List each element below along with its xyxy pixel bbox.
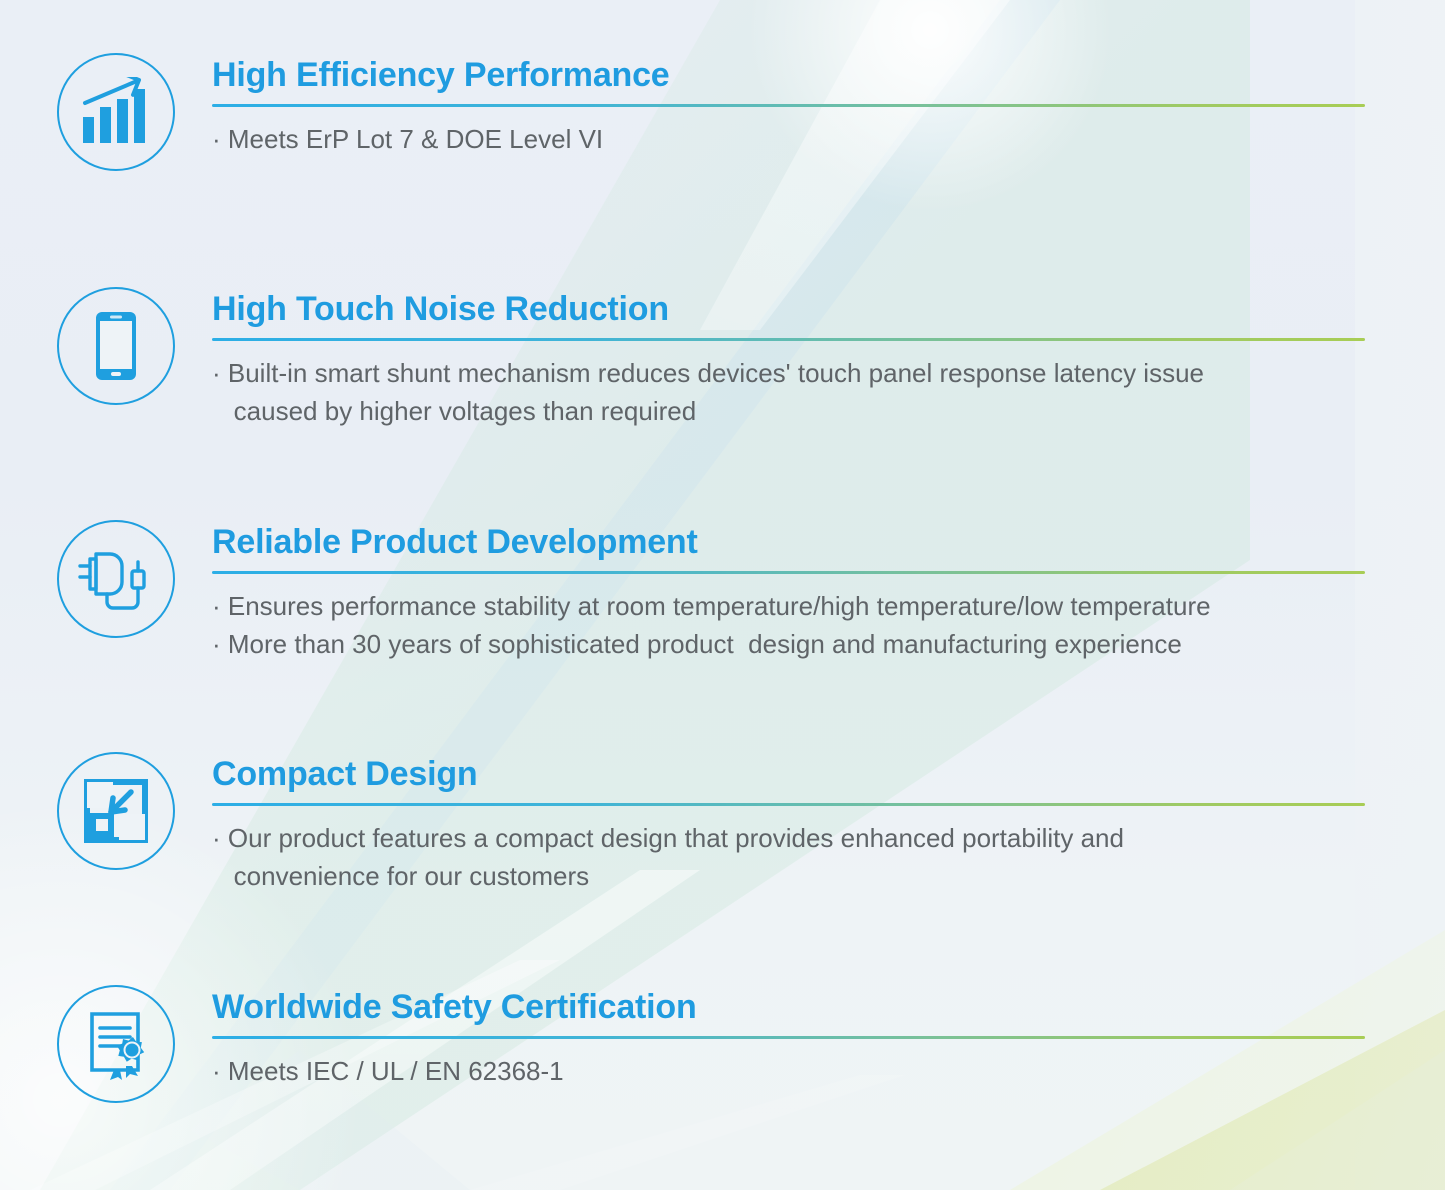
feature-icon-wrapper	[56, 52, 176, 172]
feature-description: · Our product features a compact design …	[212, 819, 1372, 895]
feature-list: High Efficiency Performance · Meets ErP …	[0, 0, 1445, 1190]
feature-icon-wrapper	[56, 984, 176, 1104]
bar-chart-growth-icon	[57, 53, 175, 171]
smartphone-icon	[57, 287, 175, 405]
feature-title: High Efficiency Performance	[212, 55, 1372, 95]
feature-text-block: High Touch Noise Reduction · Built-in sm…	[212, 289, 1372, 430]
feature-icon-wrapper	[56, 751, 176, 871]
feature-divider	[212, 803, 1365, 806]
feature-text-block: Worldwide Safety Certification · Meets I…	[212, 987, 1372, 1090]
feature-line: convenience for our customers	[212, 857, 1372, 895]
feature-divider	[212, 338, 1365, 341]
feature-line: · Ensures performance stability at room …	[212, 587, 1372, 625]
feature-line: caused by higher voltages than required	[212, 392, 1372, 430]
feature-description: · Meets ErP Lot 7 & DOE Level VI	[212, 120, 1372, 158]
feature-line: · Meets IEC / UL / EN 62368-1	[212, 1052, 1372, 1090]
feature-line: · Meets ErP Lot 7 & DOE Level VI	[212, 120, 1372, 158]
feature-divider	[212, 104, 1365, 107]
feature-description: · Built-in smart shunt mechanism reduces…	[212, 354, 1372, 430]
feature-line: · More than 30 years of sophisticated pr…	[212, 625, 1372, 663]
feature-title: Worldwide Safety Certification	[212, 987, 1372, 1027]
feature-title: High Touch Noise Reduction	[212, 289, 1372, 329]
feature-text-block: Compact Design · Our product features a …	[212, 754, 1372, 895]
compact-resize-icon	[57, 752, 175, 870]
feature-title: Reliable Product Development	[212, 522, 1372, 562]
feature-text-block: Reliable Product Development · Ensures p…	[212, 522, 1372, 663]
feature-line: · Our product features a compact design …	[212, 819, 1372, 857]
feature-highlights-page: High Efficiency Performance · Meets ErP …	[0, 0, 1445, 1190]
feature-description: · Ensures performance stability at room …	[212, 587, 1372, 663]
feature-icon-wrapper	[56, 286, 176, 406]
feature-divider	[212, 571, 1365, 574]
certificate-award-icon	[57, 985, 175, 1103]
power-adapter-icon	[57, 520, 175, 638]
feature-line: · Built-in smart shunt mechanism reduces…	[212, 354, 1372, 392]
feature-description: · Meets IEC / UL / EN 62368-1	[212, 1052, 1372, 1090]
feature-icon-wrapper	[56, 519, 176, 639]
feature-title: Compact Design	[212, 754, 1372, 794]
feature-text-block: High Efficiency Performance · Meets ErP …	[212, 55, 1372, 158]
feature-divider	[212, 1036, 1365, 1039]
